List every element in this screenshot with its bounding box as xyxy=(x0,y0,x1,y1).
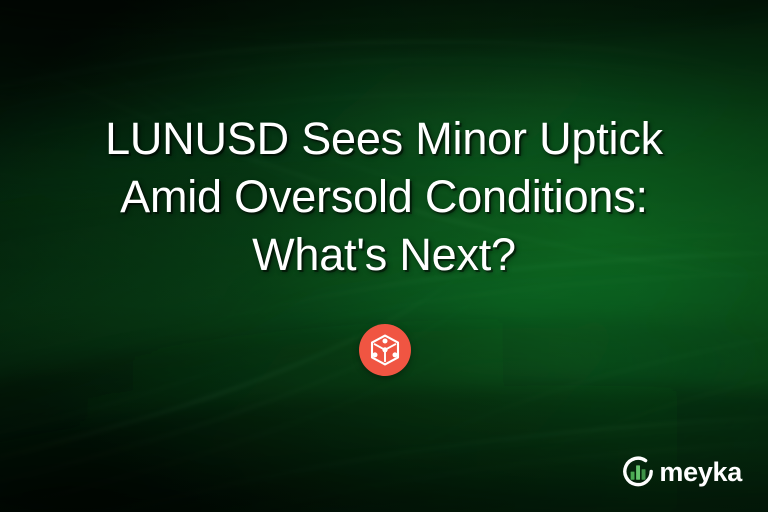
cube-badge xyxy=(359,324,411,376)
circle-bar-chart-icon xyxy=(620,454,656,490)
article-banner: LUNUSD Sees Minor Uptick Amid Oversold C… xyxy=(0,0,768,512)
brand-wordmark: meyka xyxy=(659,459,742,486)
cube-icon xyxy=(370,334,400,366)
brand-logo[interactable]: meyka xyxy=(620,454,742,490)
headline-line-3: What's Next? xyxy=(0,226,768,284)
page-title: LUNUSD Sees Minor Uptick Amid Oversold C… xyxy=(0,110,768,284)
headline-line-1: LUNUSD Sees Minor Uptick xyxy=(0,110,768,168)
headline-line-2: Amid Oversold Conditions: xyxy=(0,168,768,226)
